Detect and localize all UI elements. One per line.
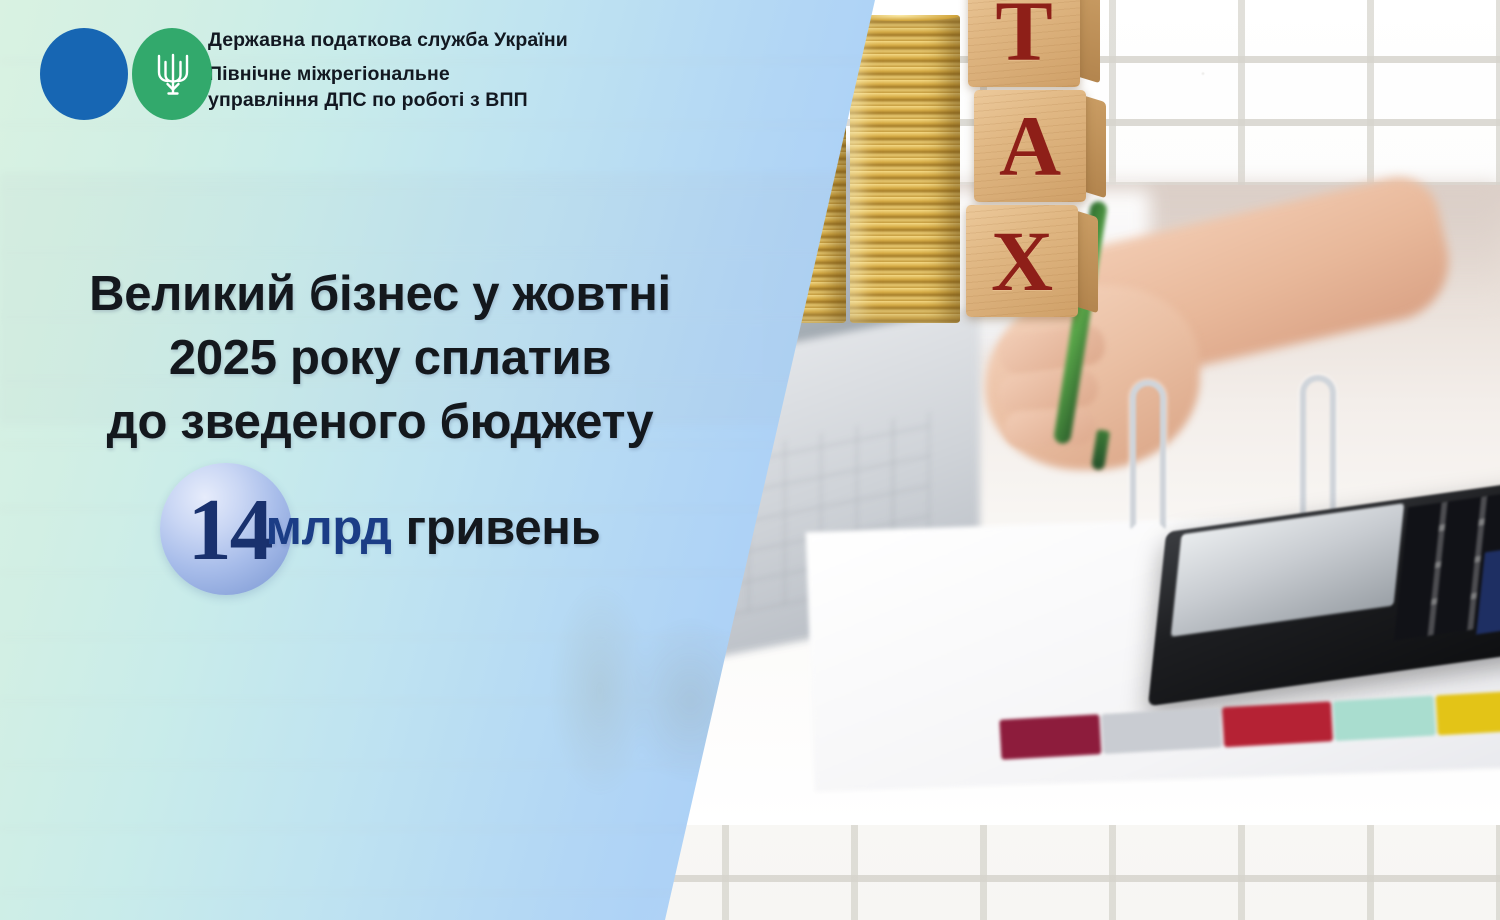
- index-tab: [1101, 707, 1222, 754]
- index-tab: [1435, 690, 1500, 735]
- agency-name-line-2: Північне міжрегіональне: [208, 62, 568, 88]
- agency-name-line-1: Державна податкова служба України: [208, 28, 568, 54]
- amount-value: 14: [188, 487, 272, 575]
- index-tab: [999, 714, 1101, 760]
- coin-stack-tall: [850, 15, 960, 323]
- wooden-block-x: X: [966, 205, 1078, 317]
- headline-line-1: Великий бізнес у жовтні: [0, 262, 760, 326]
- block-side-face: [1084, 96, 1106, 199]
- header: Державна податкова служба України Північ…: [36, 24, 568, 119]
- amount-currency: гривень: [406, 496, 601, 560]
- wooden-block-a: A: [974, 90, 1086, 202]
- agency-logo: [36, 24, 208, 119]
- headline-line-3: до зведеного бюджету: [0, 390, 760, 454]
- poster-canvas: T A X: [0, 0, 1500, 920]
- block-letter: X: [966, 205, 1078, 317]
- coin-stack-body: [850, 15, 960, 323]
- index-tab: [1333, 696, 1435, 742]
- headline-block: Великий бізнес у жовтні 2025 року сплати…: [0, 262, 760, 595]
- block-side-face: [1078, 0, 1100, 83]
- notebook-spiral-ring: [1300, 375, 1336, 525]
- amount-unit: млрд: [266, 496, 392, 560]
- block-side-face: [1076, 211, 1098, 314]
- finger: [1003, 408, 1096, 447]
- headline-line-4: 14 млрд гривень: [0, 463, 760, 595]
- logo-blue-circle: [40, 28, 128, 120]
- headline-line-2: 2025 року сплатив: [0, 326, 760, 390]
- ukraine-trident-icon: [152, 50, 194, 98]
- block-letter: A: [974, 90, 1086, 202]
- notebook-spiral-ring: [1130, 380, 1166, 530]
- index-tab: [1222, 701, 1334, 747]
- block-letter: T: [968, 0, 1080, 87]
- wooden-block-t: T: [968, 0, 1080, 87]
- agency-name-block: Державна податкова служба України Північ…: [208, 24, 568, 114]
- agency-name-line-3: управління ДПС по роботі з ВПП: [208, 88, 568, 114]
